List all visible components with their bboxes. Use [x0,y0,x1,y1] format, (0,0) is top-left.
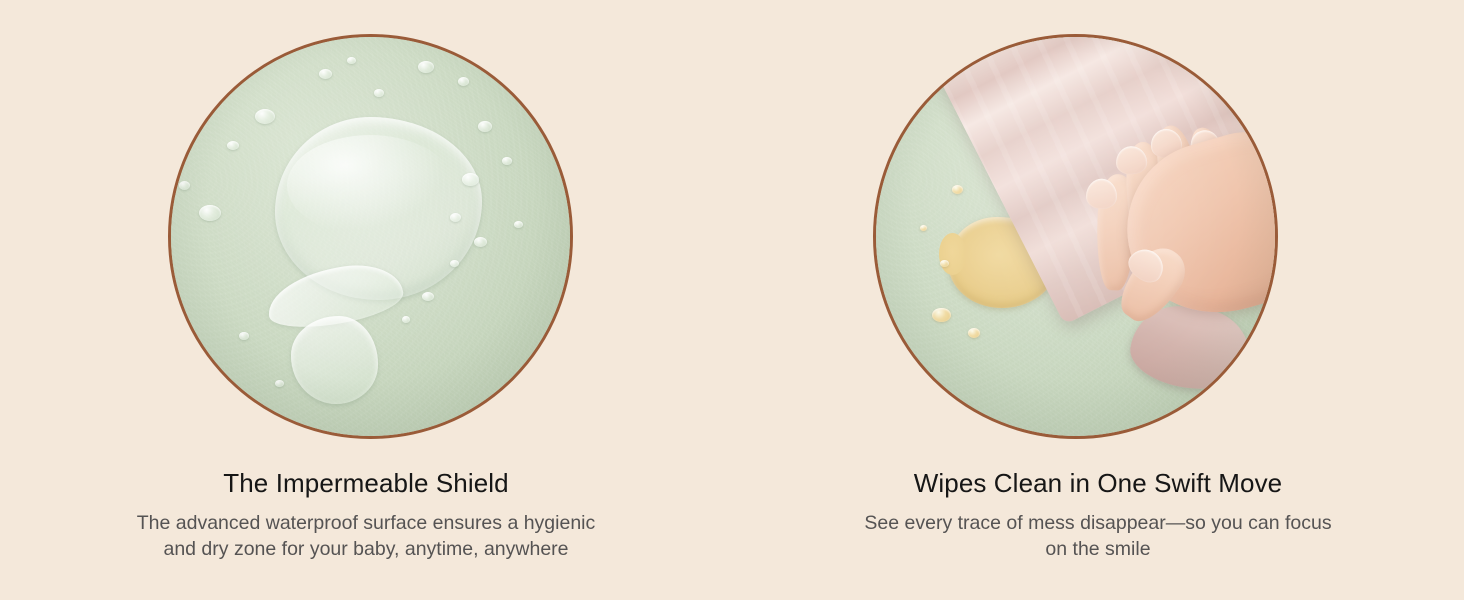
feature-panels-banner: The Impermeable Shield The advanced wate… [0,0,1464,600]
description-line-1: See every trace of mess disappear—so you… [864,512,1331,534]
panel-waterproof: The Impermeable Shield The advanced wate… [0,0,732,600]
wipeclean-image-circle [873,34,1278,439]
panel-wipeclean: Wipes Clean in One Swift Move See every … [732,0,1464,600]
circle-frame [168,34,573,439]
surface-vignette [876,37,1275,436]
wipeclean-caption: Wipes Clean in One Swift Move See every … [732,466,1464,562]
waterproof-image-circle [168,34,573,439]
panel-title: Wipes Clean in One Swift Move [732,466,1464,500]
description-line-2: and dry zone for your baby, anytime, any… [163,538,568,560]
description-line-2: on the smile [1045,538,1150,560]
panel-description: See every trace of mess disappear—so you… [778,510,1418,562]
description-line-1: The advanced waterproof surface ensures … [137,512,596,534]
waterproof-caption: The Impermeable Shield The advanced wate… [0,466,732,562]
panel-description: The advanced waterproof surface ensures … [46,510,686,562]
circle-frame [873,34,1278,439]
panel-title: The Impermeable Shield [0,466,732,500]
surface-vignette [171,37,570,436]
